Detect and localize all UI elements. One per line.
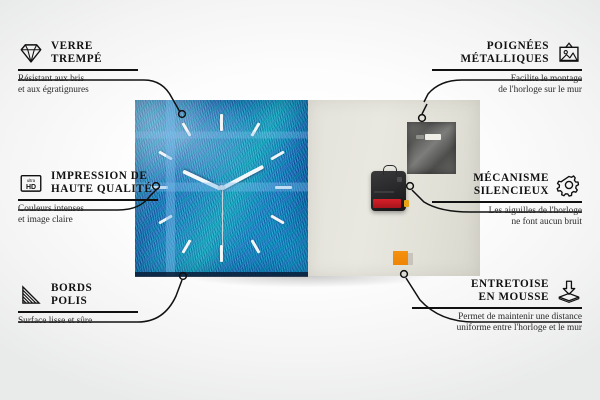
- callout-impression-haute-qualite: ultra HD IMPRESSION DE HAUTE QUALITÉ Cou…: [18, 170, 183, 226]
- callout-title-line2: POLIS: [51, 295, 92, 308]
- callout-title-line2: HAUTE QUALITÉ: [51, 183, 152, 196]
- diamond-icon: [18, 41, 44, 65]
- callout-subtitle-line1: Couleurs intenses: [18, 204, 183, 215]
- callout-poignees-metalliques: POIGNÉES MÉTALLIQUES Facilite le montage…: [432, 40, 582, 96]
- callout-header: ENTRETOISE EN MOUSSE: [412, 278, 582, 304]
- callout-rule: [18, 69, 138, 71]
- callout-mecanisme-silencieux: MÉCANISME SILENCIEUX Les aiguilles de l'…: [432, 172, 582, 228]
- battery-terminal: [404, 200, 409, 207]
- callout-title-line2: TREMPÉ: [51, 53, 102, 66]
- battery: [373, 199, 401, 208]
- callout-header: VERRE TREMPÉ: [18, 40, 168, 66]
- callout-title-line2: MÉTALLIQUES: [460, 53, 549, 66]
- foam-spacer: [393, 251, 408, 265]
- callout-title-line1: POIGNÉES: [460, 40, 549, 53]
- ultra-hd-icon: ultra HD: [18, 171, 44, 195]
- callout-entretoise-en-mousse: ENTRETOISE EN MOUSSE Permet de maintenir…: [412, 278, 582, 334]
- callout-subtitle-line2: ne font aucun bruit: [432, 217, 582, 228]
- callout-title-line1: MÉCANISME: [473, 172, 549, 185]
- foam-spacer-arrow-icon: [556, 279, 582, 303]
- clock-second-hand: [222, 188, 223, 246]
- callout-title-line2: EN MOUSSE: [412, 291, 549, 304]
- callout-title-line2: SILENCIEUX: [473, 185, 549, 198]
- callout-header: ultra HD IMPRESSION DE HAUTE QUALITÉ: [18, 170, 183, 196]
- callout-header: BORDS POLIS: [18, 282, 168, 308]
- movement-detail: [397, 177, 402, 182]
- movement-hook: [383, 165, 397, 175]
- clock-tick: [270, 150, 284, 160]
- clock-minute-hand: [220, 165, 264, 191]
- movement-detail-line: [374, 191, 394, 193]
- callout-rule: [432, 201, 582, 203]
- callout-rule: [18, 311, 138, 313]
- polished-edge-icon: [18, 283, 44, 307]
- clock-tick: [250, 239, 260, 253]
- clock-tick: [220, 245, 223, 262]
- hanger-slot: [425, 134, 441, 140]
- clock-tick: [158, 150, 172, 160]
- infographic-canvas: VERRE TREMPÉ Résistant aux bris et aux é…: [0, 0, 600, 400]
- callout-subtitle-line1: Les aiguilles de l'horloge: [432, 206, 582, 217]
- callout-header: POIGNÉES MÉTALLIQUES: [432, 40, 582, 66]
- ultra-hd-icon-large-text: HD: [26, 184, 36, 191]
- callout-verre-trempe: VERRE TREMPÉ Résistant aux bris et aux é…: [18, 40, 168, 96]
- clock-tick: [220, 114, 223, 131]
- callout-subtitle-line2: et image claire: [18, 215, 183, 226]
- clock-movement: [371, 171, 406, 211]
- callout-title-line1: VERRE: [51, 40, 102, 53]
- callout-title-line1: BORDS: [51, 282, 92, 295]
- callout-title-line1: ENTRETOISE: [412, 278, 549, 291]
- callout-subtitle-line2: de l'horloge sur le mur: [432, 85, 582, 96]
- hanger-plate: [407, 122, 456, 174]
- picture-frame-hanger-icon: [556, 41, 582, 65]
- clock-tick: [181, 239, 191, 253]
- callout-header: MÉCANISME SILENCIEUX: [432, 172, 582, 198]
- callout-bords-polis: BORDS POLIS Surface lisse et sûre: [18, 282, 168, 327]
- clock-hour-hand: [182, 169, 222, 190]
- callout-rule: [412, 307, 582, 309]
- callout-title-line1: IMPRESSION DE: [51, 170, 152, 183]
- callout-subtitle-line1: Facilite le montage: [432, 74, 582, 85]
- callout-subtitle-line1: Permet de maintenir une distance: [412, 312, 582, 323]
- clock-center-pin: [219, 185, 224, 190]
- callout-rule: [18, 199, 158, 201]
- clock-tick: [181, 122, 191, 136]
- ultra-hd-icon-small-text: ultra: [27, 178, 36, 183]
- callout-subtitle-line2: et aux égratignures: [18, 85, 168, 96]
- callout-subtitle-line1: Résistant aux bris: [18, 74, 168, 85]
- callout-subtitle-line1: Surface lisse et sûre: [18, 316, 168, 327]
- clock-tick: [275, 186, 292, 189]
- gear-icon: [556, 173, 582, 197]
- clock-tick: [270, 214, 284, 224]
- clock-tick: [250, 122, 260, 136]
- product-photo: [135, 100, 480, 276]
- callout-rule: [432, 69, 582, 71]
- callout-subtitle-line2: uniforme entre l'horloge et le mur: [412, 323, 582, 334]
- hanger-slot-secondary: [416, 135, 424, 139]
